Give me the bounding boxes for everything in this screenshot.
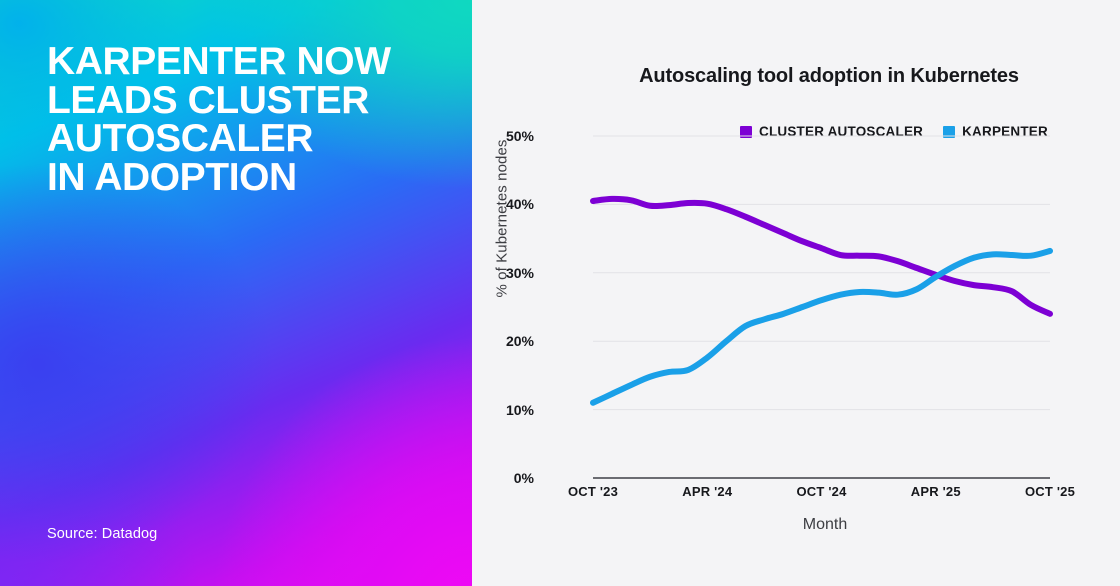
x-tick-label: APR '24 [682, 484, 732, 499]
x-tick-label: OCT '25 [1025, 484, 1075, 499]
plot-area: % of Kubernetes nodes Month 0%10%20%30%4… [472, 0, 1120, 586]
hero-title: KARPENTER NOW LEADS CLUSTER AUTOSCALER I… [47, 43, 432, 197]
x-tick-label: APR '25 [911, 484, 961, 499]
hero-content: KARPENTER NOW LEADS CLUSTER AUTOSCALER I… [0, 0, 472, 586]
x-tick-label: OCT '24 [796, 484, 846, 499]
source-attribution: Source: Datadog [47, 526, 157, 542]
series-line-karpenter [593, 251, 1050, 403]
infographic-root: KARPENTER NOW LEADS CLUSTER AUTOSCALER I… [0, 0, 1120, 586]
x-tick-label: OCT '23 [568, 484, 618, 499]
hero-panel: KARPENTER NOW LEADS CLUSTER AUTOSCALER I… [0, 0, 472, 586]
chart-panel: Autoscaling tool adoption in Kubernetes … [472, 0, 1120, 586]
